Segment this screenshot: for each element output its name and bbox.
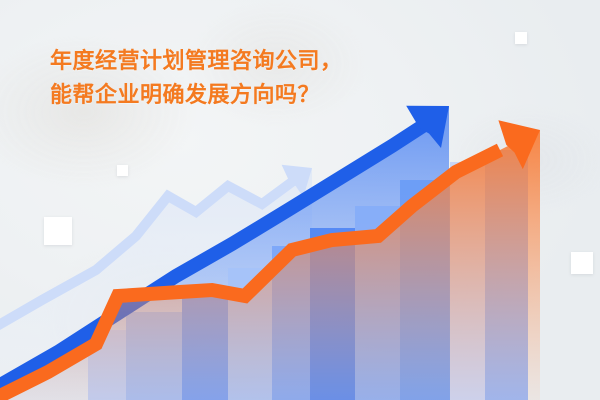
square-top-right xyxy=(515,32,527,44)
headline-line-1: 年度经营计划管理咨询公司， xyxy=(50,44,343,78)
headline-line-2: 能帮企业明确发展方向吗？ xyxy=(50,78,343,112)
square-right-mid xyxy=(571,252,593,274)
square-left-large xyxy=(44,217,72,245)
square-mid-small xyxy=(117,165,128,176)
growth-banner: 年度经营计划管理咨询公司， 能帮企业明确发展方向吗？ xyxy=(0,0,600,400)
page-title: 年度经营计划管理咨询公司， 能帮企业明确发展方向吗？ xyxy=(50,44,343,112)
